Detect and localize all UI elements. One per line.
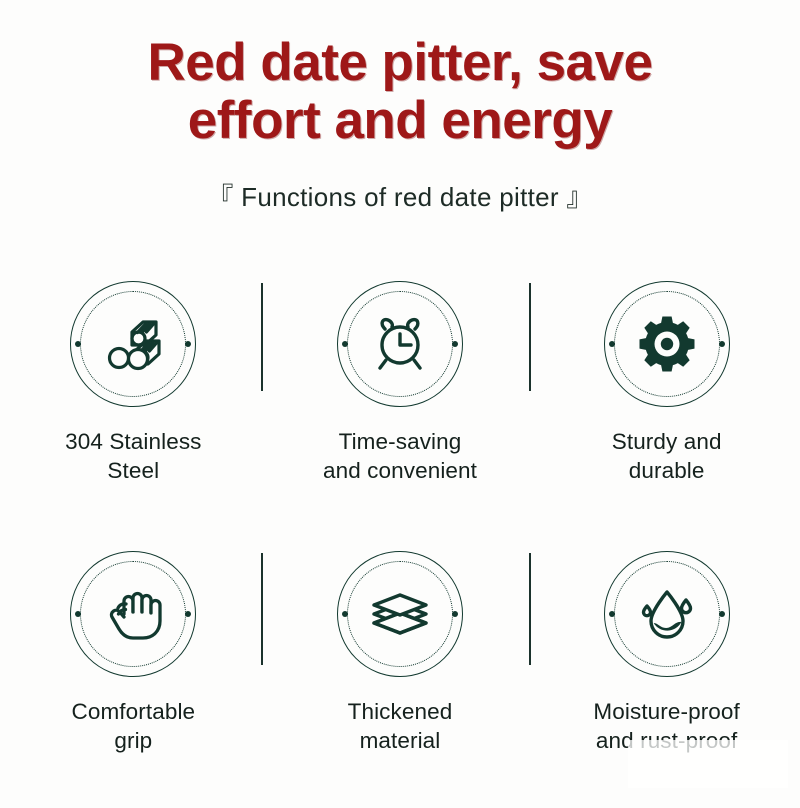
caption-line-1: Time-saving	[323, 427, 477, 456]
feature-badge	[337, 281, 463, 407]
badge-dot-right	[185, 611, 191, 617]
feature-caption: Comfortable grip	[72, 697, 196, 756]
feature-badge	[70, 281, 196, 407]
layers-icon	[368, 585, 432, 643]
header: Red date pitter, save effort and energy …	[0, 34, 800, 214]
alarm-clock-icon	[369, 313, 431, 375]
page-title-line-1: Red date pitter, save	[60, 34, 740, 92]
caption-line-1: Thickened	[348, 697, 453, 726]
badge-dot-right	[452, 611, 458, 617]
caption-line-1: Moisture-proof	[593, 697, 739, 726]
infographic-page: Red date pitter, save effort and energy …	[0, 0, 800, 800]
caption-line-2: Steel	[65, 456, 201, 485]
feature-badge	[604, 551, 730, 677]
water-droplet-icon	[636, 583, 698, 645]
feature-caption: Time-saving and convenient	[323, 427, 477, 486]
caption-line-1: 304 Stainless	[65, 427, 201, 456]
feature-item-time-saving: Time-saving and convenient	[267, 268, 534, 538]
feature-badge	[604, 281, 730, 407]
feature-item-thickened-material: Thickened material	[267, 538, 534, 808]
feature-caption: 304 Stainless Steel	[65, 427, 201, 486]
page-subtitle: 『 Functions of red date pitter 』	[0, 151, 800, 214]
caption-line-2: grip	[72, 726, 196, 755]
hand-grip-icon	[101, 584, 165, 644]
badge-dot-right	[719, 611, 725, 617]
feature-caption: Thickened material	[348, 697, 453, 756]
feature-badge	[70, 551, 196, 677]
feature-item-comfortable-grip: Comfortable grip	[0, 538, 267, 808]
caption-line-1: Comfortable	[72, 697, 196, 726]
feature-item-sturdy-durable: Sturdy and durable	[533, 268, 800, 538]
badge-dot-left	[342, 341, 348, 347]
badge-dot-left	[609, 611, 615, 617]
corner-watermark-block	[628, 740, 788, 788]
feature-item-stainless-steel: 304 Stainless Steel	[0, 268, 267, 538]
badge-dot-right	[452, 341, 458, 347]
caption-line-2: material	[348, 726, 453, 755]
feature-caption: Sturdy and durable	[612, 427, 722, 486]
caption-line-2: durable	[612, 456, 722, 485]
page-title: Red date pitter, save effort and energy	[0, 34, 800, 151]
gear-icon	[637, 314, 697, 374]
badge-dot-right	[719, 341, 725, 347]
badge-dot-left	[609, 341, 615, 347]
feature-badge	[337, 551, 463, 677]
stacked-logs-icon	[102, 313, 164, 375]
caption-line-2: and convenient	[323, 456, 477, 485]
badge-dot-right	[185, 341, 191, 347]
page-title-line-2: effort and energy	[60, 92, 740, 150]
feature-grid: 304 Stainless Steel	[0, 268, 800, 808]
badge-dot-left	[342, 611, 348, 617]
caption-line-1: Sturdy and	[612, 427, 722, 456]
